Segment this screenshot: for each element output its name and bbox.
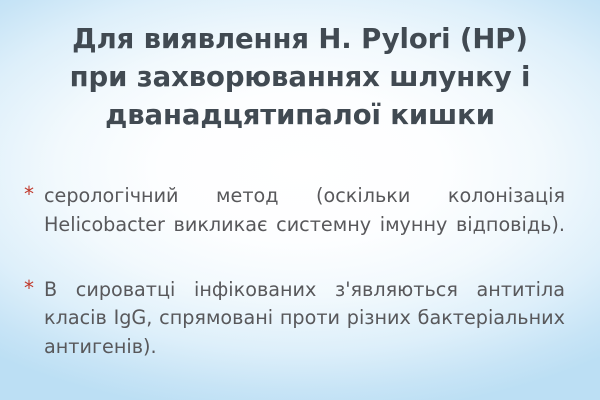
list-item: * В сироватці інфікованих з'являються ан… xyxy=(24,276,565,390)
title-line-2: при захворюваннях шлунку і xyxy=(18,58,582,96)
list-item-text: серологічний метод (оскільки колонізація… xyxy=(44,182,565,268)
title-line-1: Для виявлення H. Pylori (HP) xyxy=(18,20,582,58)
title-line-3: дванадцятипалої кишки xyxy=(18,96,582,134)
asterisk-bullet-icon: * xyxy=(24,274,42,302)
asterisk-bullet-icon: * xyxy=(24,180,42,208)
slide-canvas: Для виявлення H. Pylori (HP) при захворю… xyxy=(0,0,600,400)
list-item-text: В сироватці інфікованих з'являються анти… xyxy=(44,276,565,390)
slide-body: * серологічний метод (оскільки колонізац… xyxy=(24,182,565,398)
list-item: * серологічний метод (оскільки колонізац… xyxy=(24,182,565,268)
slide-title: Для виявлення H. Pylori (HP) при захворю… xyxy=(18,20,582,134)
